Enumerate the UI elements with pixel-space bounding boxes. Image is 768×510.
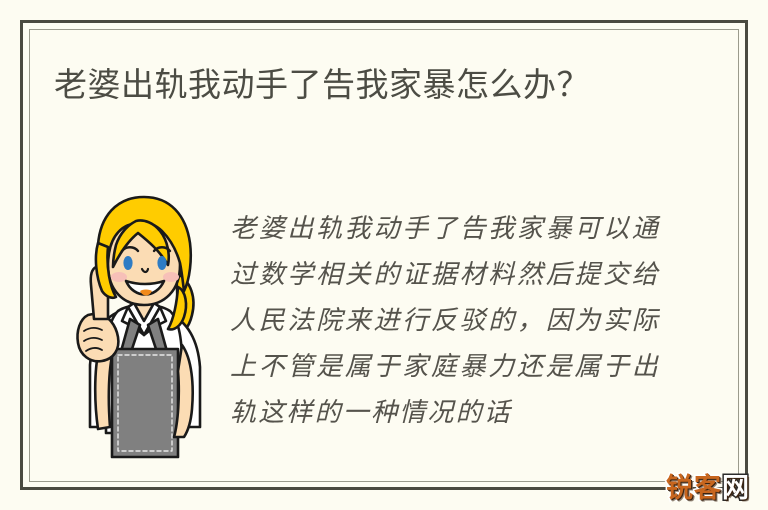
- illustration-blonde-woman-pointing-up: [64, 195, 224, 460]
- article-content: 老婆出轨我动手了告我家暴可以通过数学相关的证据材料然后提交给人民法院来进行反驳的…: [54, 190, 694, 460]
- site-watermark: 锐客网: [666, 475, 750, 502]
- article-body: 老婆出轨我动手了告我家暴可以通过数学相关的证据材料然后提交给人民法院来进行反驳的…: [230, 206, 660, 436]
- watermark-main: 锐客: [666, 473, 722, 503]
- page-root: 老婆出轨我动手了告我家暴怎么办？: [0, 0, 768, 510]
- page-title: 老婆出轨我动手了告我家暴怎么办？: [54, 60, 674, 110]
- watermark-last: 网: [722, 473, 750, 503]
